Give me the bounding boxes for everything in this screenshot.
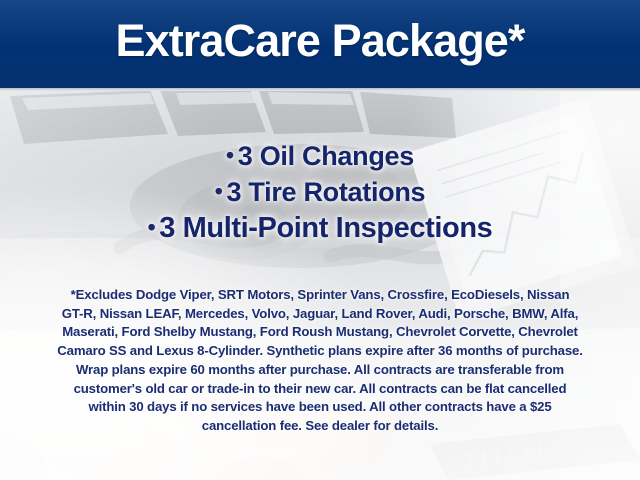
disclaimer-line: *Excludes Dodge Viper, SRT Motors, Sprin… (14, 286, 626, 305)
benefits-list: •3 Oil Changes •3 Tire Rotations •3 Mult… (0, 138, 640, 246)
disclaimer-line: customer's old car or trade-in to their … (14, 380, 626, 399)
disclaimer-line: within 30 days if no services have been … (14, 398, 626, 417)
disclaimer-line: cancellation fee. See dealer for details… (14, 417, 626, 436)
extracare-package-banner: ExtraCare Package* •3 Oil Changes •3 Tir… (0, 0, 640, 480)
benefit-label: 3 Tire Rotations (227, 177, 426, 207)
benefit-item: •3 Oil Changes (0, 138, 640, 174)
benefit-item: •3 Tire Rotations (0, 174, 640, 210)
benefit-item: •3 Multi-Point Inspections (0, 210, 640, 246)
header-divider (0, 88, 640, 91)
benefit-label: 3 Oil Changes (238, 141, 414, 171)
disclaimer-text: *Excludes Dodge Viper, SRT Motors, Sprin… (14, 286, 626, 436)
bullet-icon: • (226, 142, 234, 168)
disclaimer-line: GT-R, Nissan LEAF, Mercedes, Volvo, Jagu… (14, 305, 626, 324)
header-bar: ExtraCare Package* (0, 0, 640, 88)
disclaimer-line: Camaro SS and Lexus 8-Cylinder. Syntheti… (14, 342, 626, 361)
page-title: ExtraCare Package* (0, 14, 640, 67)
disclaimer-line: Maserati, Ford Shelby Mustang, Ford Rous… (14, 323, 626, 342)
bullet-icon: • (215, 178, 223, 204)
disclaimer-line: Wrap plans expire 60 months after purcha… (14, 361, 626, 380)
benefit-label: 3 Multi-Point Inspections (159, 212, 492, 244)
bullet-icon: • (148, 214, 156, 240)
